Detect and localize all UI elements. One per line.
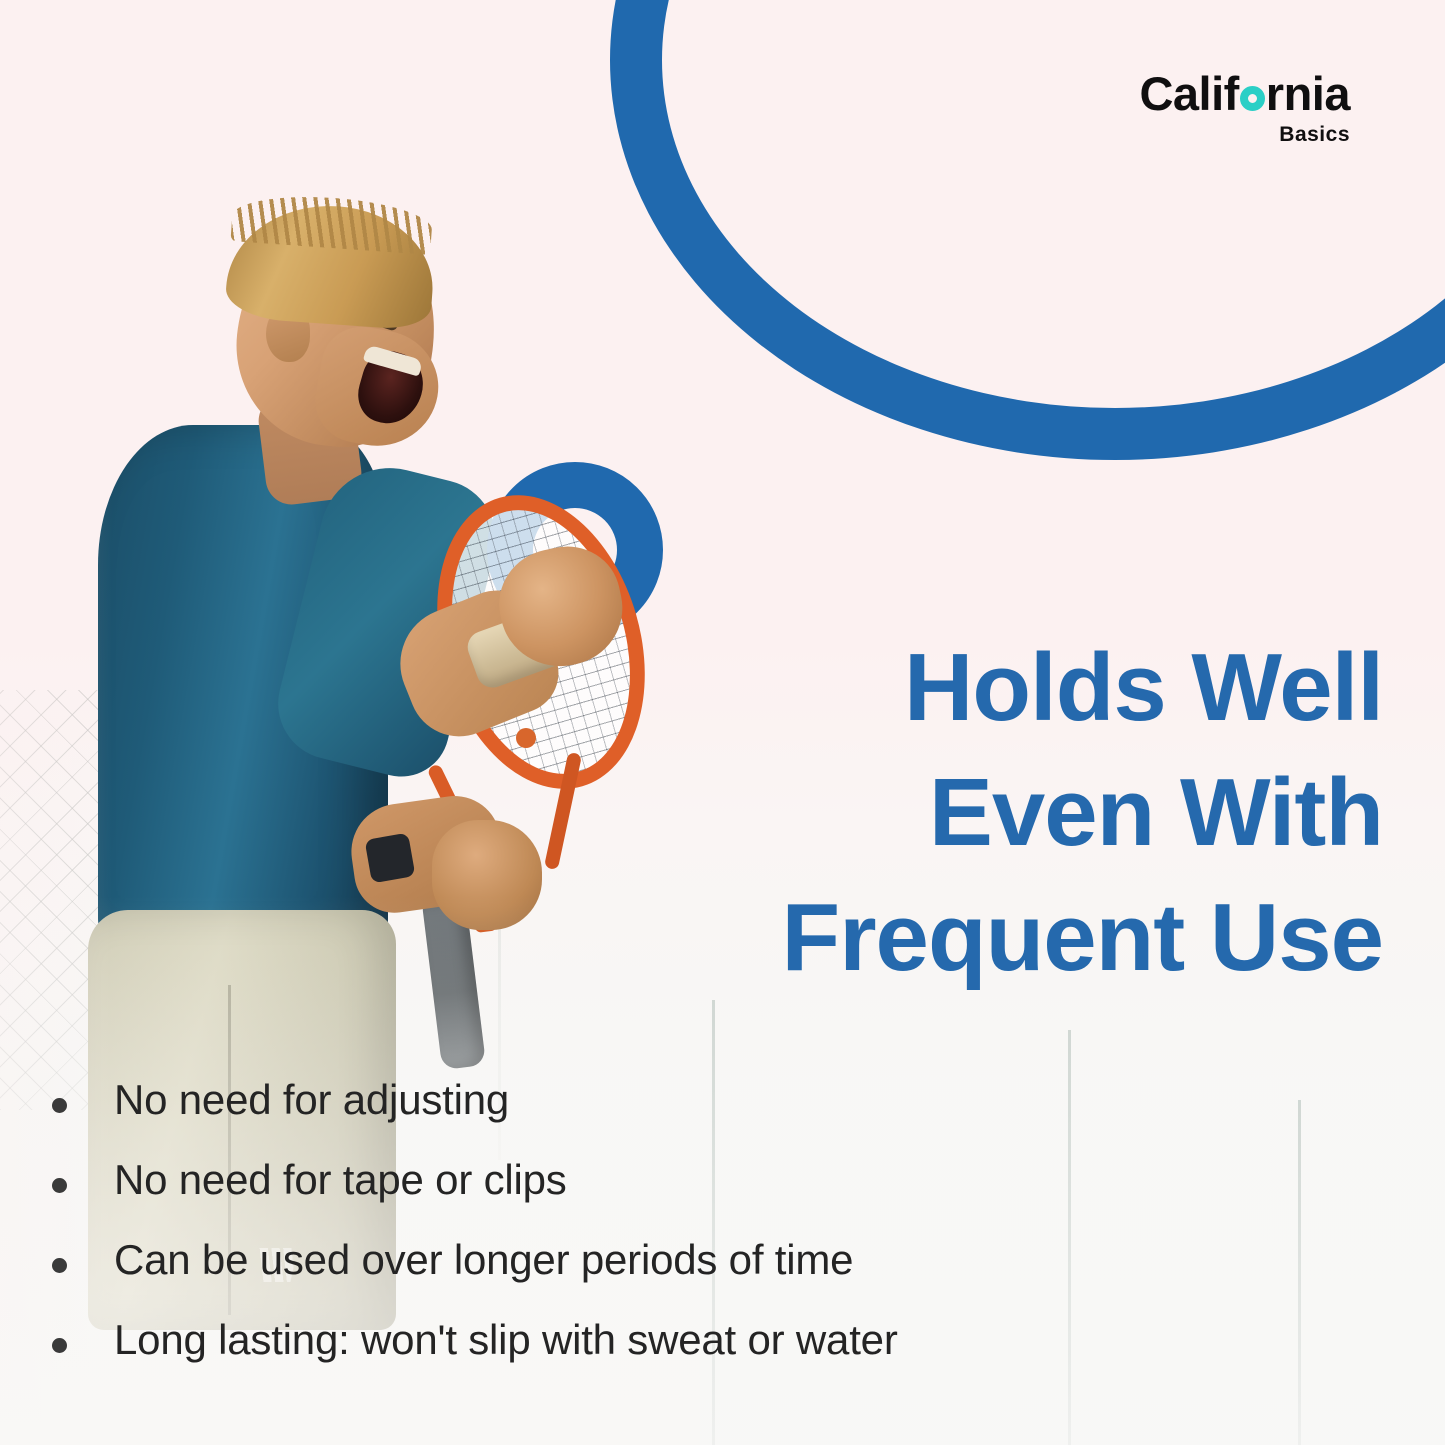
logo-o-ring-icon xyxy=(1240,86,1265,111)
headline: Holds Well Even With Frequent Use xyxy=(623,626,1383,1000)
tennis-ball xyxy=(516,728,536,748)
feature-list: No need for adjusting No need for tape o… xyxy=(52,1078,1392,1398)
brand-logo: Califrnia Basics xyxy=(1139,70,1350,145)
hand-on-grip xyxy=(432,820,542,930)
list-item: Long lasting: won't slip with sweat or w… xyxy=(52,1318,1392,1398)
logo-name-part2: rnia xyxy=(1266,67,1350,120)
headline-line-1: Holds Well xyxy=(623,626,1383,751)
bullet-dot-icon xyxy=(52,1258,67,1273)
headline-line-3: Frequent Use xyxy=(623,876,1383,1001)
wristwatch xyxy=(365,833,416,884)
list-item-label: Long lasting: won't slip with sweat or w… xyxy=(114,1318,898,1362)
list-item: Can be used over longer periods of time xyxy=(52,1238,1392,1318)
list-item: No need for tape or clips xyxy=(52,1158,1392,1238)
headline-line-2: Even With xyxy=(623,751,1383,876)
logo-tagline: Basics xyxy=(1139,124,1350,145)
bullet-dot-icon xyxy=(52,1338,67,1353)
logo-name-part1: Calif xyxy=(1139,67,1238,120)
list-item-label: No need for adjusting xyxy=(114,1078,509,1122)
promo-banner: Califrnia Basics Holds Well Even With Fr… xyxy=(0,0,1445,1445)
list-item-label: No need for tape or clips xyxy=(114,1158,567,1202)
logo-wordmark: Califrnia xyxy=(1139,70,1350,117)
list-item: No need for adjusting xyxy=(52,1078,1392,1158)
bullet-dot-icon xyxy=(52,1098,67,1113)
list-item-label: Can be used over longer periods of time xyxy=(114,1238,853,1282)
bullet-dot-icon xyxy=(52,1178,67,1193)
